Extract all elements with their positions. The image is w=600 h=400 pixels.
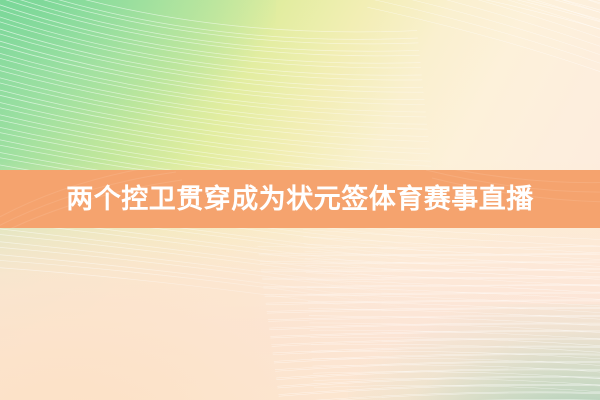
background-bloom-teal	[348, 304, 600, 400]
title-band: 两个控卫贯穿成为状元签体育赛事直播	[0, 170, 600, 228]
background-bloom-green	[0, 0, 276, 136]
banner-image: 两个控卫贯穿成为状元签体育赛事直播	[0, 0, 600, 400]
banner-title: 两个控卫贯穿成为状元签体育赛事直播	[66, 186, 534, 213]
